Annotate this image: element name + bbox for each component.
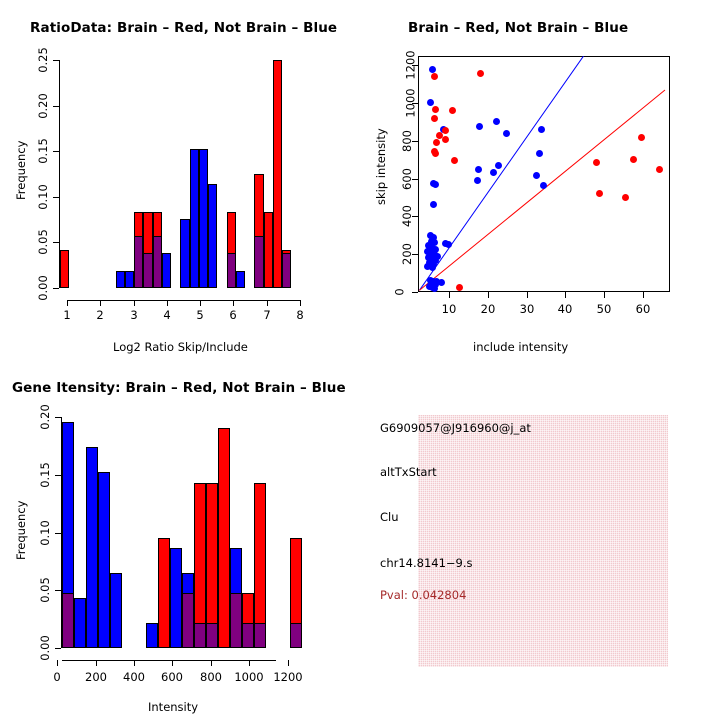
x-axis-tick	[167, 300, 168, 306]
panel-gene-info: G6909057@J916960@j_at altTxStart Clu chr…	[360, 360, 720, 720]
x-axis-tick-label: 3	[130, 308, 137, 322]
histogram-bar	[146, 623, 158, 648]
histogram-bar	[125, 271, 134, 288]
y-axis-tick-label: 0.20	[38, 404, 52, 430]
scatter-point	[477, 70, 484, 77]
y-axis-tick-label: 600	[400, 168, 414, 190]
scatter-point	[429, 264, 436, 271]
x-axis-tick	[233, 300, 234, 306]
y-axis-tick-label: 400	[400, 205, 414, 227]
scatter-point	[445, 241, 452, 248]
y-axis-tick-label: 0.05	[36, 229, 50, 255]
gene-hist-plot-area	[62, 417, 302, 648]
scatter-point	[490, 169, 497, 176]
scatter-point	[596, 190, 603, 197]
y-axis-tick-label: 0.20	[36, 93, 50, 119]
gene-hist-ylabel: Frequency	[14, 501, 28, 560]
x-axis-tick	[134, 300, 135, 306]
scatter-point	[431, 285, 438, 292]
y-axis-tick	[55, 417, 61, 418]
panel-ratio-histogram: RatioData: Brain – Red, Not Brain – Blue…	[0, 0, 360, 360]
x-axis-tick	[565, 292, 566, 298]
y-axis-tick-label: 0.00	[38, 635, 52, 661]
x-axis-tick-label: 6	[229, 308, 236, 322]
histogram-bar	[86, 447, 98, 648]
histogram-bar	[60, 250, 69, 288]
scatter-point	[593, 159, 600, 166]
histogram-bar	[116, 271, 125, 288]
y-axis-tick	[412, 292, 418, 293]
scatter-ylabel: skip intensity	[374, 128, 388, 205]
x-axis-tick-label: 1	[63, 308, 70, 322]
panel-intensity-scatter: Brain – Red, Not Brain – Blue skip inten…	[360, 0, 720, 360]
histogram-bar	[206, 623, 218, 648]
scatter-point	[432, 150, 439, 157]
histogram-bar	[190, 149, 199, 288]
y-axis-tick-label: 1000	[404, 88, 418, 117]
scatter-point	[427, 99, 434, 106]
ratio-hist-xlabel: Log2 Ratio Skip/Include	[113, 340, 248, 354]
scatter-point	[630, 156, 637, 163]
x-axis-line	[62, 660, 276, 661]
scatter-xlabel: include intensity	[473, 340, 568, 354]
y-axis-tick	[55, 475, 61, 476]
y-axis-tick	[53, 60, 59, 61]
x-axis-tick-label: 20	[481, 302, 496, 316]
y-axis-tick-label: 0.25	[36, 47, 50, 73]
histogram-bar	[74, 598, 86, 648]
x-axis-tick-label: 60	[636, 302, 651, 316]
x-axis-tick-label: 4	[163, 308, 170, 322]
x-axis-tick-label: 0	[53, 670, 60, 684]
scatter-point	[432, 181, 439, 188]
x-axis-tick	[488, 292, 489, 298]
scatter-point	[429, 66, 436, 73]
y-axis-tick-label: 0.00	[36, 275, 50, 301]
scatter-point	[493, 118, 500, 125]
x-axis-tick-label: 30	[520, 302, 535, 316]
y-axis-tick-label: 200	[400, 243, 414, 265]
histogram-bar	[162, 253, 171, 288]
histogram-bar	[199, 149, 208, 288]
histogram-bar	[143, 253, 152, 288]
histogram-bar	[273, 60, 282, 288]
x-axis-tick-label: 200	[85, 670, 107, 684]
y-axis-tick	[55, 590, 61, 591]
scatter-point	[449, 107, 456, 114]
ratio-hist-ylabel: Frequency	[14, 141, 28, 200]
y-axis-tick	[55, 533, 61, 534]
info-event-type: altTxStart	[380, 465, 437, 479]
x-axis-tick	[267, 300, 268, 306]
histogram-bar	[227, 253, 236, 288]
x-axis-tick-label: 40	[558, 302, 573, 316]
histogram-bar	[254, 623, 266, 648]
histogram-bar	[98, 472, 110, 648]
scatter-point	[442, 127, 449, 134]
x-axis-tick	[449, 292, 450, 298]
x-axis-line	[67, 300, 300, 301]
x-axis-tick-label: 8	[296, 308, 303, 322]
scatter-point	[431, 73, 438, 80]
y-axis-tick	[53, 151, 59, 152]
info-pvalue: Pval: 0.042804	[380, 588, 466, 602]
x-axis-tick-label: 5	[196, 308, 203, 322]
scatter-point	[476, 123, 483, 130]
scatter-point	[432, 106, 439, 113]
scatter-point	[533, 172, 540, 179]
x-axis-tick	[604, 292, 605, 298]
x-axis-tick-label: 10	[442, 302, 457, 316]
x-axis-tick	[249, 660, 250, 666]
histogram-bar	[180, 219, 189, 288]
scatter-point	[431, 115, 438, 122]
x-axis-tick-label: 7	[263, 308, 270, 322]
y-axis-tick	[53, 288, 59, 289]
panel-gene-intensity-histogram: Gene Itensity: Brain – Red, Not Brain – …	[0, 360, 360, 720]
x-axis-tick	[200, 300, 201, 306]
x-axis-tick	[300, 300, 301, 306]
y-axis-tick-label: 0.10	[38, 520, 52, 546]
scatter-point	[538, 126, 545, 133]
scatter-point	[540, 182, 547, 189]
scatter-point	[430, 201, 437, 208]
y-axis-tick	[53, 242, 59, 243]
histogram-bar	[242, 623, 254, 648]
x-axis-tick-label: 1000	[234, 670, 263, 684]
y-axis-tick	[55, 648, 61, 649]
scatter-plot-area	[418, 56, 670, 292]
x-axis-tick-label: 50	[597, 302, 612, 316]
y-axis-tick	[53, 197, 59, 198]
histogram-bar	[208, 184, 217, 288]
ratio-hist-plot-area	[60, 60, 310, 288]
scatter-point	[442, 136, 449, 143]
histogram-bar	[62, 593, 74, 648]
gene-hist-title: Gene Itensity: Brain – Red, Not Brain – …	[12, 380, 346, 396]
ratio-hist-title: RatioData: Brain – Red, Not Brain – Blue	[30, 20, 337, 36]
histogram-bar	[230, 593, 242, 648]
x-axis-tick	[134, 660, 135, 666]
x-axis-tick	[172, 660, 173, 666]
histogram-bar	[153, 236, 162, 288]
info-coordinates: chr14.8141−9.s	[380, 556, 473, 570]
histogram-bar	[110, 573, 122, 648]
reference-line	[419, 90, 665, 291]
histogram-bar	[254, 236, 263, 288]
histogram-bar	[290, 623, 302, 648]
x-axis-tick	[96, 660, 97, 666]
scatter-point	[438, 279, 445, 286]
x-axis-tick-label: 600	[161, 670, 183, 684]
y-axis-tick-label: 1200	[404, 50, 418, 79]
gene-info-box	[418, 415, 668, 667]
x-axis-tick	[643, 292, 644, 298]
histogram-bar	[194, 623, 206, 648]
scatter-point	[456, 284, 463, 291]
y-axis-tick-label: 0.05	[38, 577, 52, 603]
histogram-bar	[218, 428, 230, 648]
scatter-point	[474, 177, 481, 184]
y-axis-tick-label: 0.10	[36, 184, 50, 210]
scatter-point	[503, 130, 510, 137]
histogram-bar	[282, 253, 291, 288]
scatter-point	[536, 150, 543, 157]
scatter-point	[622, 194, 629, 201]
scatter-point	[638, 134, 645, 141]
y-axis-tick	[53, 106, 59, 107]
x-axis-tick	[211, 660, 212, 666]
histogram-bar	[236, 271, 245, 288]
y-axis-tick-label: 0.15	[36, 138, 50, 164]
x-axis-tick	[67, 300, 68, 306]
scatter-point	[656, 166, 663, 173]
histogram-bar	[134, 236, 143, 288]
histogram-bar	[158, 538, 170, 648]
y-axis-tick-label: 0.15	[38, 462, 52, 488]
scatter-title: Brain – Red, Not Brain – Blue	[408, 20, 628, 36]
histogram-bar	[170, 548, 182, 648]
scatter-point	[433, 139, 440, 146]
x-axis-tick	[57, 660, 58, 666]
info-probe-id: G6909057@J916960@j_at	[380, 421, 531, 435]
scatter-point	[495, 162, 502, 169]
y-axis-tick-label: 800	[400, 130, 414, 152]
histogram-bar	[182, 593, 194, 648]
x-axis-tick	[288, 660, 289, 666]
x-axis-tick	[100, 300, 101, 306]
x-axis-tick-label: 2	[96, 308, 103, 322]
x-axis-tick-label: 400	[123, 670, 145, 684]
x-axis-tick	[527, 292, 528, 298]
gene-hist-xlabel: Intensity	[148, 700, 198, 714]
scatter-point	[451, 157, 458, 164]
info-gene-symbol: Clu	[380, 510, 399, 524]
reference-line	[419, 56, 584, 291]
x-axis-tick-label: 1200	[273, 670, 302, 684]
scatter-point	[475, 166, 482, 173]
y-axis-tick-label: 0	[393, 288, 407, 295]
x-axis-tick-label: 800	[200, 670, 222, 684]
histogram-bar	[264, 212, 273, 288]
